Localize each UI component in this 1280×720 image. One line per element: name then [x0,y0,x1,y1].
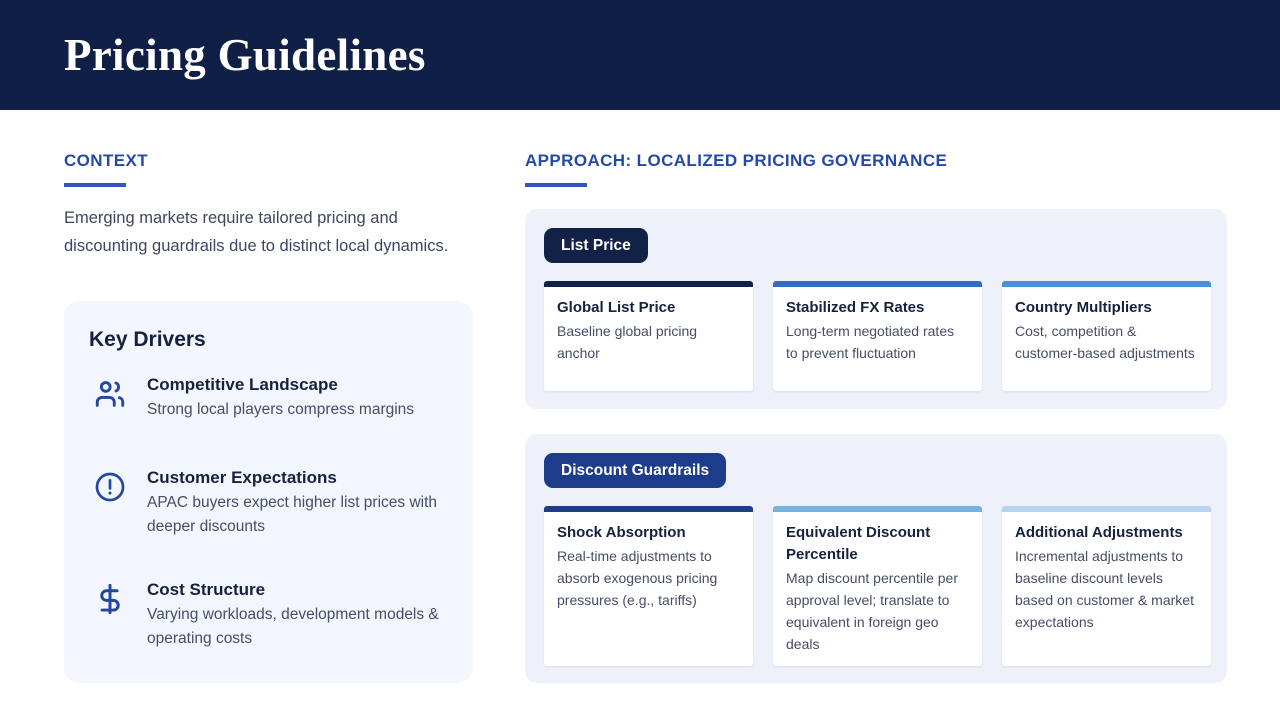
panel-list-price: List Price Global List Price Baseline gl… [525,209,1227,409]
driver-desc: APAC buyers expect higher list prices wi… [147,491,459,539]
card-title: Stabilized FX Rates [786,297,969,319]
card-shock-absorption[interactable]: Shock Absorption Real-time adjustments t… [544,506,753,666]
card-title: Shock Absorption [557,522,740,544]
card-equivalent-discount-percentile[interactable]: Equivalent Discount Percentile Map disco… [773,506,982,666]
panel-discount-guardrails: Discount Guardrails Shock Absorption Rea… [525,434,1227,683]
dollar-sign-icon [89,578,131,620]
approach-heading-label: APPROACH: LOCALIZED PRICING GOVERNANCE [525,151,947,171]
card-additional-adjustments[interactable]: Additional Adjustments Incremental adjus… [1002,506,1211,666]
context-heading-label: CONTEXT [64,151,148,171]
driver-name: Customer Expectations [147,466,459,489]
driver-desc: Varying workloads, development models & … [147,603,459,651]
slide-header: Pricing Guidelines [0,0,1280,110]
panel-badge-discount-guardrails[interactable]: Discount Guardrails [544,453,726,488]
panel-badge-list-price[interactable]: List Price [544,228,648,263]
card-title: Country Multipliers [1015,297,1198,319]
driver-item-customer-expectations: Customer Expectations APAC buyers expect… [89,465,459,539]
card-title: Global List Price [557,297,740,319]
context-section-heading: CONTEXT [64,151,148,187]
card-desc: Incremental adjustments to baseline disc… [1015,545,1198,633]
driver-name: Competitive Landscape [147,373,414,396]
page-title: Pricing Guidelines [64,27,426,83]
card-desc: Cost, competition & customer-based adjus… [1015,320,1198,364]
key-drivers-title: Key Drivers [89,328,206,352]
card-country-multipliers[interactable]: Country Multipliers Cost, competition & … [1002,281,1211,391]
card-desc: Real-time adjustments to absorb exogenou… [557,545,740,611]
driver-item-cost-structure: Cost Structure Varying workloads, develo… [89,577,459,651]
card-global-list-price[interactable]: Global List Price Baseline global pricin… [544,281,753,391]
slide-root: Pricing Guidelines CONTEXT Emerging mark… [0,0,1280,720]
alert-circle-icon [89,466,131,508]
driver-desc: Strong local players compress margins [147,398,414,422]
approach-heading-rule [525,183,587,187]
context-paragraph: Emerging markets require tailored pricin… [64,204,466,260]
driver-name: Cost Structure [147,578,459,601]
card-desc: Map discount percentile per approval lev… [786,567,969,655]
discount-guardrails-cards: Shock Absorption Real-time adjustments t… [544,506,1211,666]
key-drivers-card: Key Drivers Competitive Landscape Strong… [64,301,473,683]
context-heading-rule [64,183,126,187]
card-desc: Baseline global pricing anchor [557,320,740,364]
card-title: Additional Adjustments [1015,522,1198,544]
approach-section-heading: APPROACH: LOCALIZED PRICING GOVERNANCE [525,151,947,187]
list-price-cards: Global List Price Baseline global pricin… [544,281,1211,391]
card-stabilized-fx-rates[interactable]: Stabilized FX Rates Long-term negotiated… [773,281,982,391]
card-desc: Long-term negotiated rates to prevent fl… [786,320,969,364]
card-title: Equivalent Discount Percentile [786,522,969,566]
users-icon [89,373,131,415]
driver-item-competitive-landscape: Competitive Landscape Strong local playe… [89,372,459,422]
